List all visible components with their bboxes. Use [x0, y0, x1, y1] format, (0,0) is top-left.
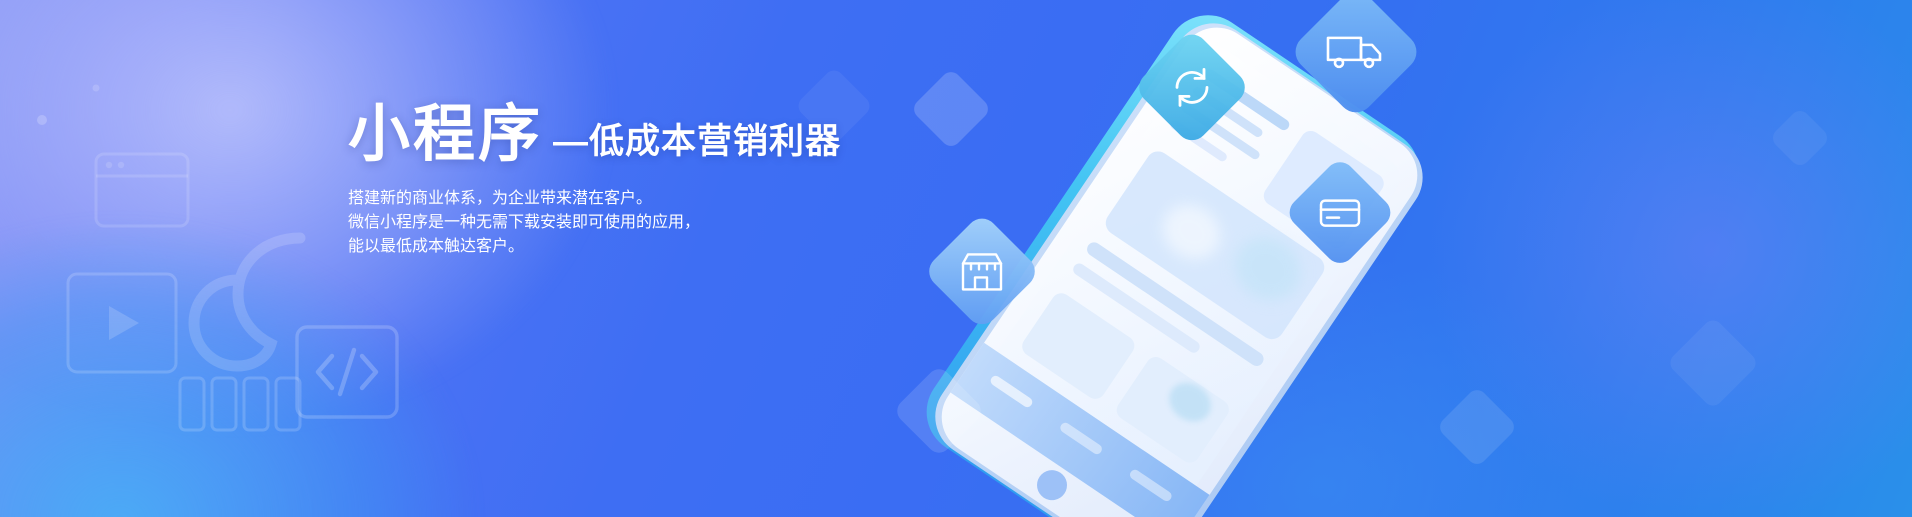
banner-copy: 小程序 —低成本营销利器 搭建新的商业体系，为企业带来潜在客户。 微信小程序是一… — [348, 104, 968, 272]
dot-sparkle-icon — [0, 60, 130, 180]
description-line-3: 能以最低成本触达客户。 — [348, 232, 968, 256]
hero-banner: 小程序 —低成本营销利器 搭建新的商业体系，为企业带来潜在客户。 微信小程序是一… — [0, 0, 1912, 517]
video-card-icon — [62, 268, 182, 378]
description-line-1: 搭建新的商业体系，为企业带来潜在客户。 — [348, 184, 968, 208]
headline-suffix: —低成本营销利器 — [553, 124, 841, 159]
list-lines-icon — [176, 370, 311, 440]
description-line-2: 微信小程序是一种无需下载安装即可使用的应用， — [348, 208, 968, 232]
page-title: 小程序 —低成本营销利器 — [348, 104, 968, 166]
headline-main: 小程序 — [348, 104, 543, 166]
